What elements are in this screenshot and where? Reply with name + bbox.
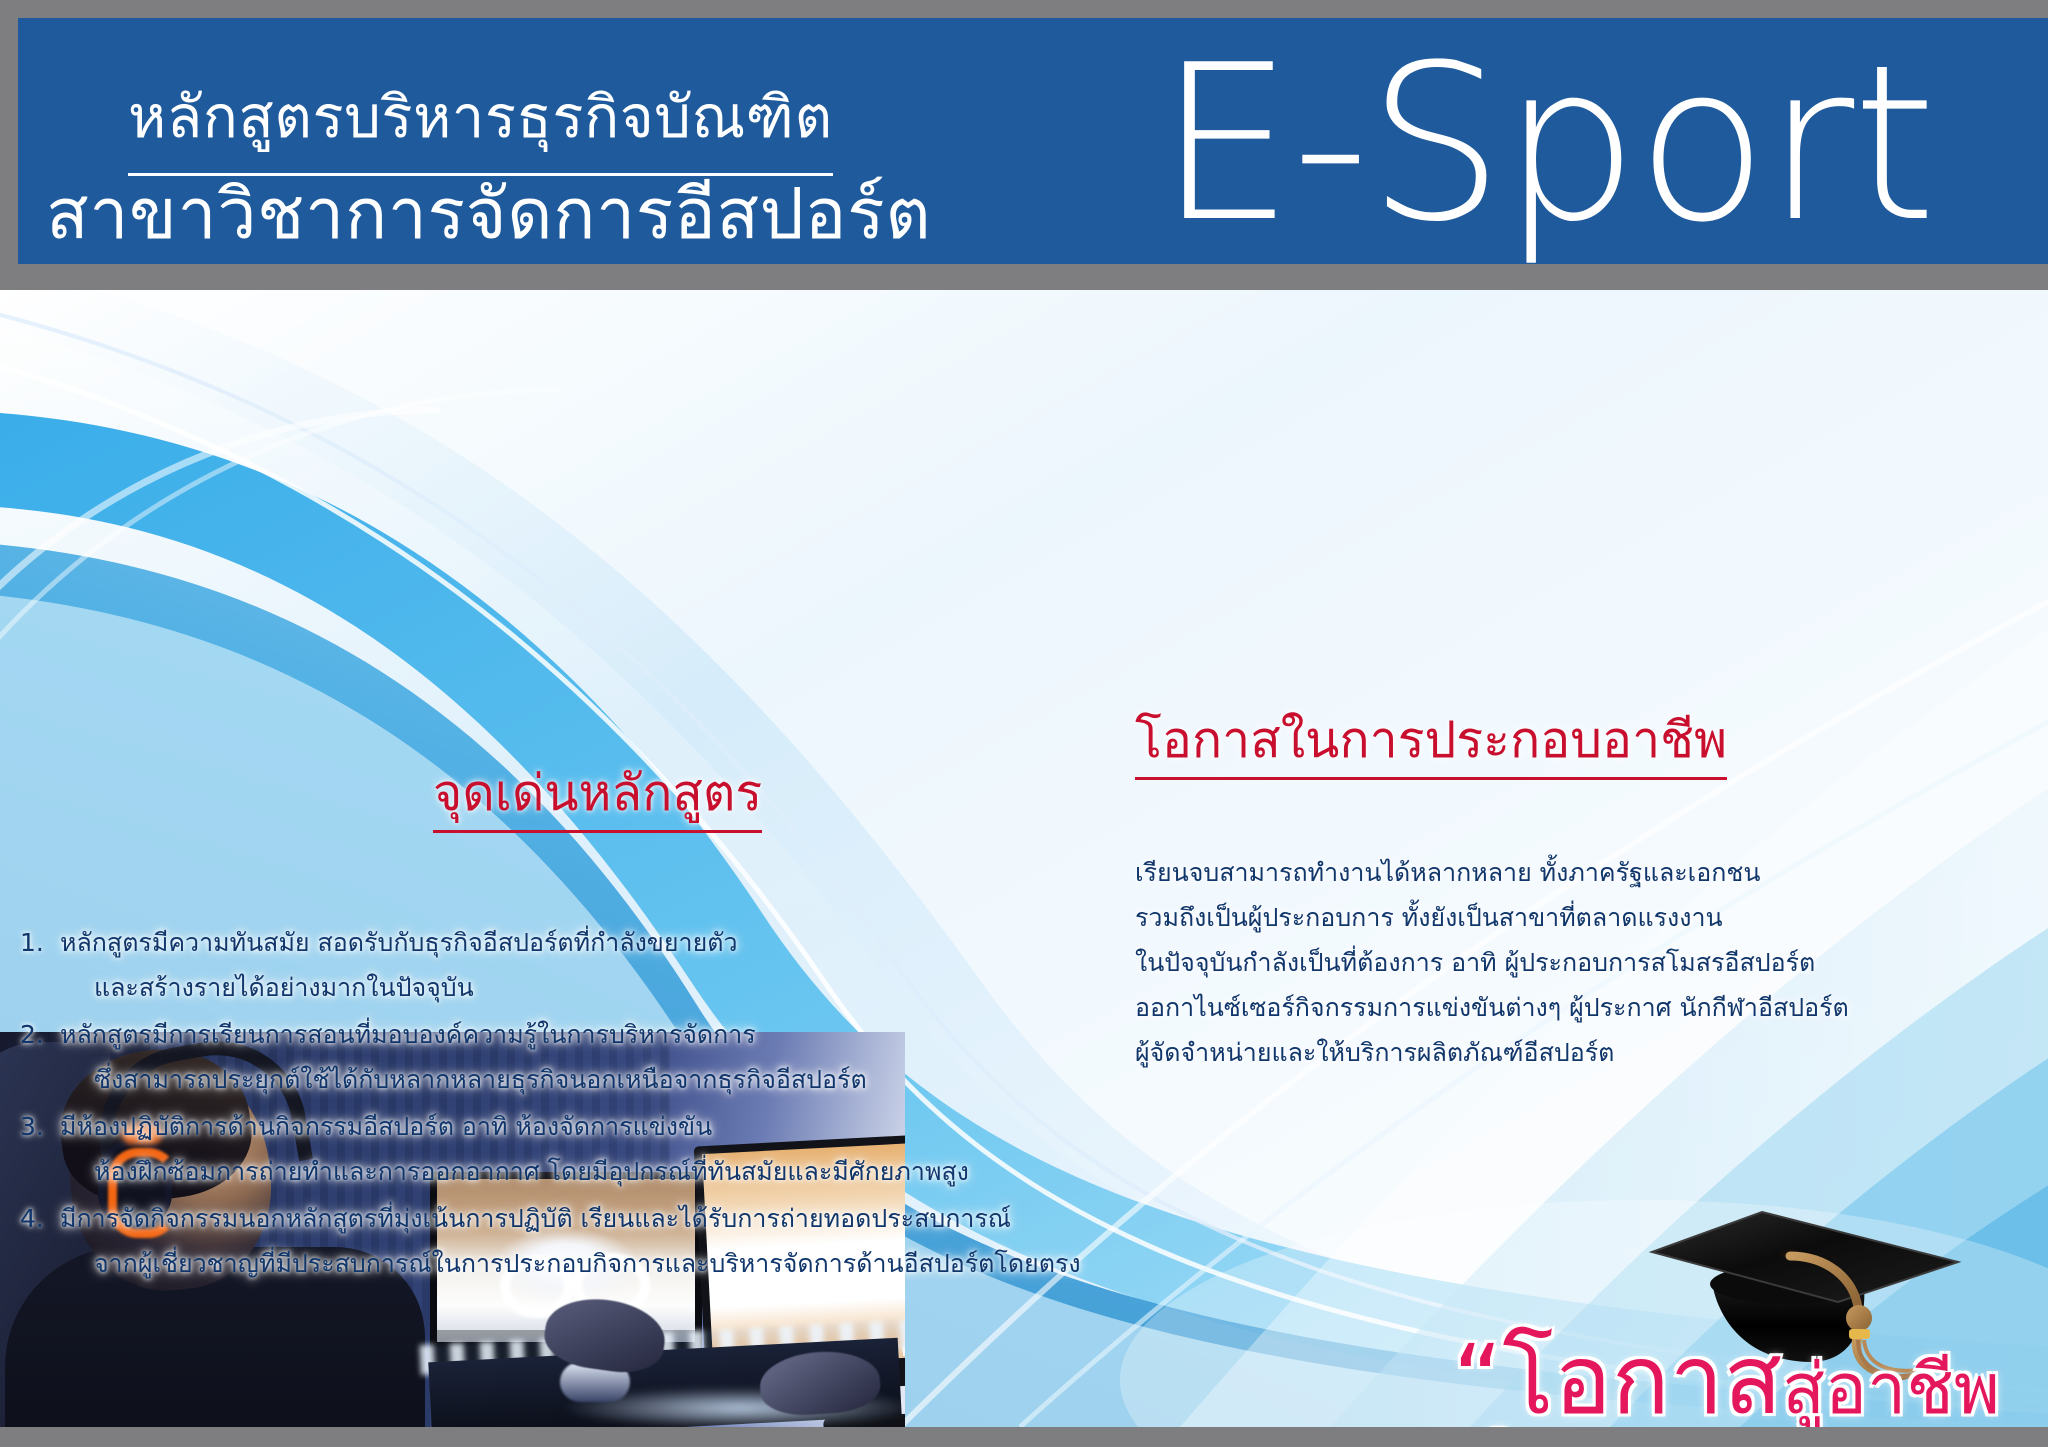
list-item-line: ซึ่งสามารถประยุกต์ใช้ได้กับหลากหลายธุรกิ… <box>60 1057 1020 1102</box>
list-item-line: จากผู้เชี่ยวชาญที่มีประสบการณ์ในการประกอ… <box>60 1241 1081 1286</box>
list-item-line: หลักสูตรมีความทันสมัย สอดรับกับธุรกิจอีส… <box>60 920 1020 965</box>
list-item-line: ห้องฝึกซ้อมการถ่ายทำและการออกอากาศ โดยมี… <box>60 1149 1020 1194</box>
list-item-number: 1. <box>20 920 60 1010</box>
slogan-line2: ในอนาคต <box>1476 1426 1892 1427</box>
poster-header: หลักสูตรบริหารธุรกิจบัณฑิต สาขาวิชาการจั… <box>18 18 2048 264</box>
slogan-line1-main: โอกาส <box>1502 1324 1782 1427</box>
list-item: 2. หลักสูตรมีการเรียนการสอนที่มอบองค์ควา… <box>20 1012 1020 1102</box>
paragraph-line: ผู้จัดจำหน่ายและให้บริการผลิตภัณฑ์อีสปอร… <box>1135 1030 1995 1075</box>
list-item-line: และสร้างรายได้อย่างมากในปัจจุบัน <box>60 965 1020 1010</box>
brand-title-esport: E-Sport <box>1158 36 1935 251</box>
slogan-block: “โอกาสสู่อาชีพ ในอนาคต รอคุณอยู่” <box>1300 1330 2000 1427</box>
list-item: 4. มีการจัดกิจกรรมนอกหลักสูตรที่มุ่งเน้น… <box>20 1196 1020 1286</box>
career-opportunities-paragraph: เรียนจบสามารถทำงานได้หลากหลาย ทั้งภาครัฐ… <box>1135 850 1995 1075</box>
list-item: 3. มีห้องปฏิบัติการด้านกิจกรรมอีสปอร์ต อ… <box>20 1104 1020 1194</box>
paragraph-line: ออกาไนซ์เซอร์กิจกรรมการแข่งขันต่างๆ ผู้ป… <box>1135 985 1995 1030</box>
list-item-number: 2. <box>20 1012 60 1102</box>
poster-root: หลักสูตรบริหารธุรกิจบัณฑิต สาขาวิชาการจั… <box>0 0 2048 1447</box>
left-section-heading: จุดเด่นหลักสูตร <box>433 768 762 833</box>
poster-body: จุดเด่นหลักสูตร 1. หลักสูตรมีความทันสมัย… <box>0 290 2048 1427</box>
list-item: 1. หลักสูตรมีความทันสมัย สอดรับกับธุรกิจ… <box>20 920 1020 1010</box>
list-item-line: มีห้องปฏิบัติการด้านกิจกรรมอีสปอร์ต อาทิ… <box>60 1104 1020 1149</box>
program-title-line2: สาขาวิชาการจัดการอีสปอร์ต <box>46 158 931 264</box>
paragraph-line: รวมถึงเป็นผู้ประกอบการ ทั้งยังเป็นสาขาที… <box>1135 895 1995 940</box>
right-section-heading: โอกาสในการประกอบอาชีพ <box>1135 715 1727 780</box>
list-item-line: หลักสูตรมีการเรียนการสอนที่มอบองค์ความรู… <box>60 1012 1020 1057</box>
paragraph-line: เรียนจบสามารถทำงานได้หลากหลาย ทั้งภาครัฐ… <box>1135 850 1995 895</box>
course-highlights-list: 1. หลักสูตรมีความทันสมัย สอดรับกับธุรกิจ… <box>20 920 1020 1288</box>
list-item-number: 3. <box>20 1104 60 1194</box>
slogan-row-1: “โอกาสสู่อาชีพ <box>1300 1330 2000 1427</box>
paragraph-line: ในปัจจุบันกำลังเป็นที่ต้องการ อาทิ ผู้ปร… <box>1135 940 1995 985</box>
list-item-number: 4. <box>20 1196 60 1286</box>
slogan-line1-sub: สู่อาชีพ <box>1782 1348 2000 1427</box>
open-quote: “ <box>1453 1324 1503 1427</box>
list-item-line: มีการจัดกิจกรรมนอกหลักสูตรที่มุ่งเน้นการ… <box>60 1196 1081 1241</box>
